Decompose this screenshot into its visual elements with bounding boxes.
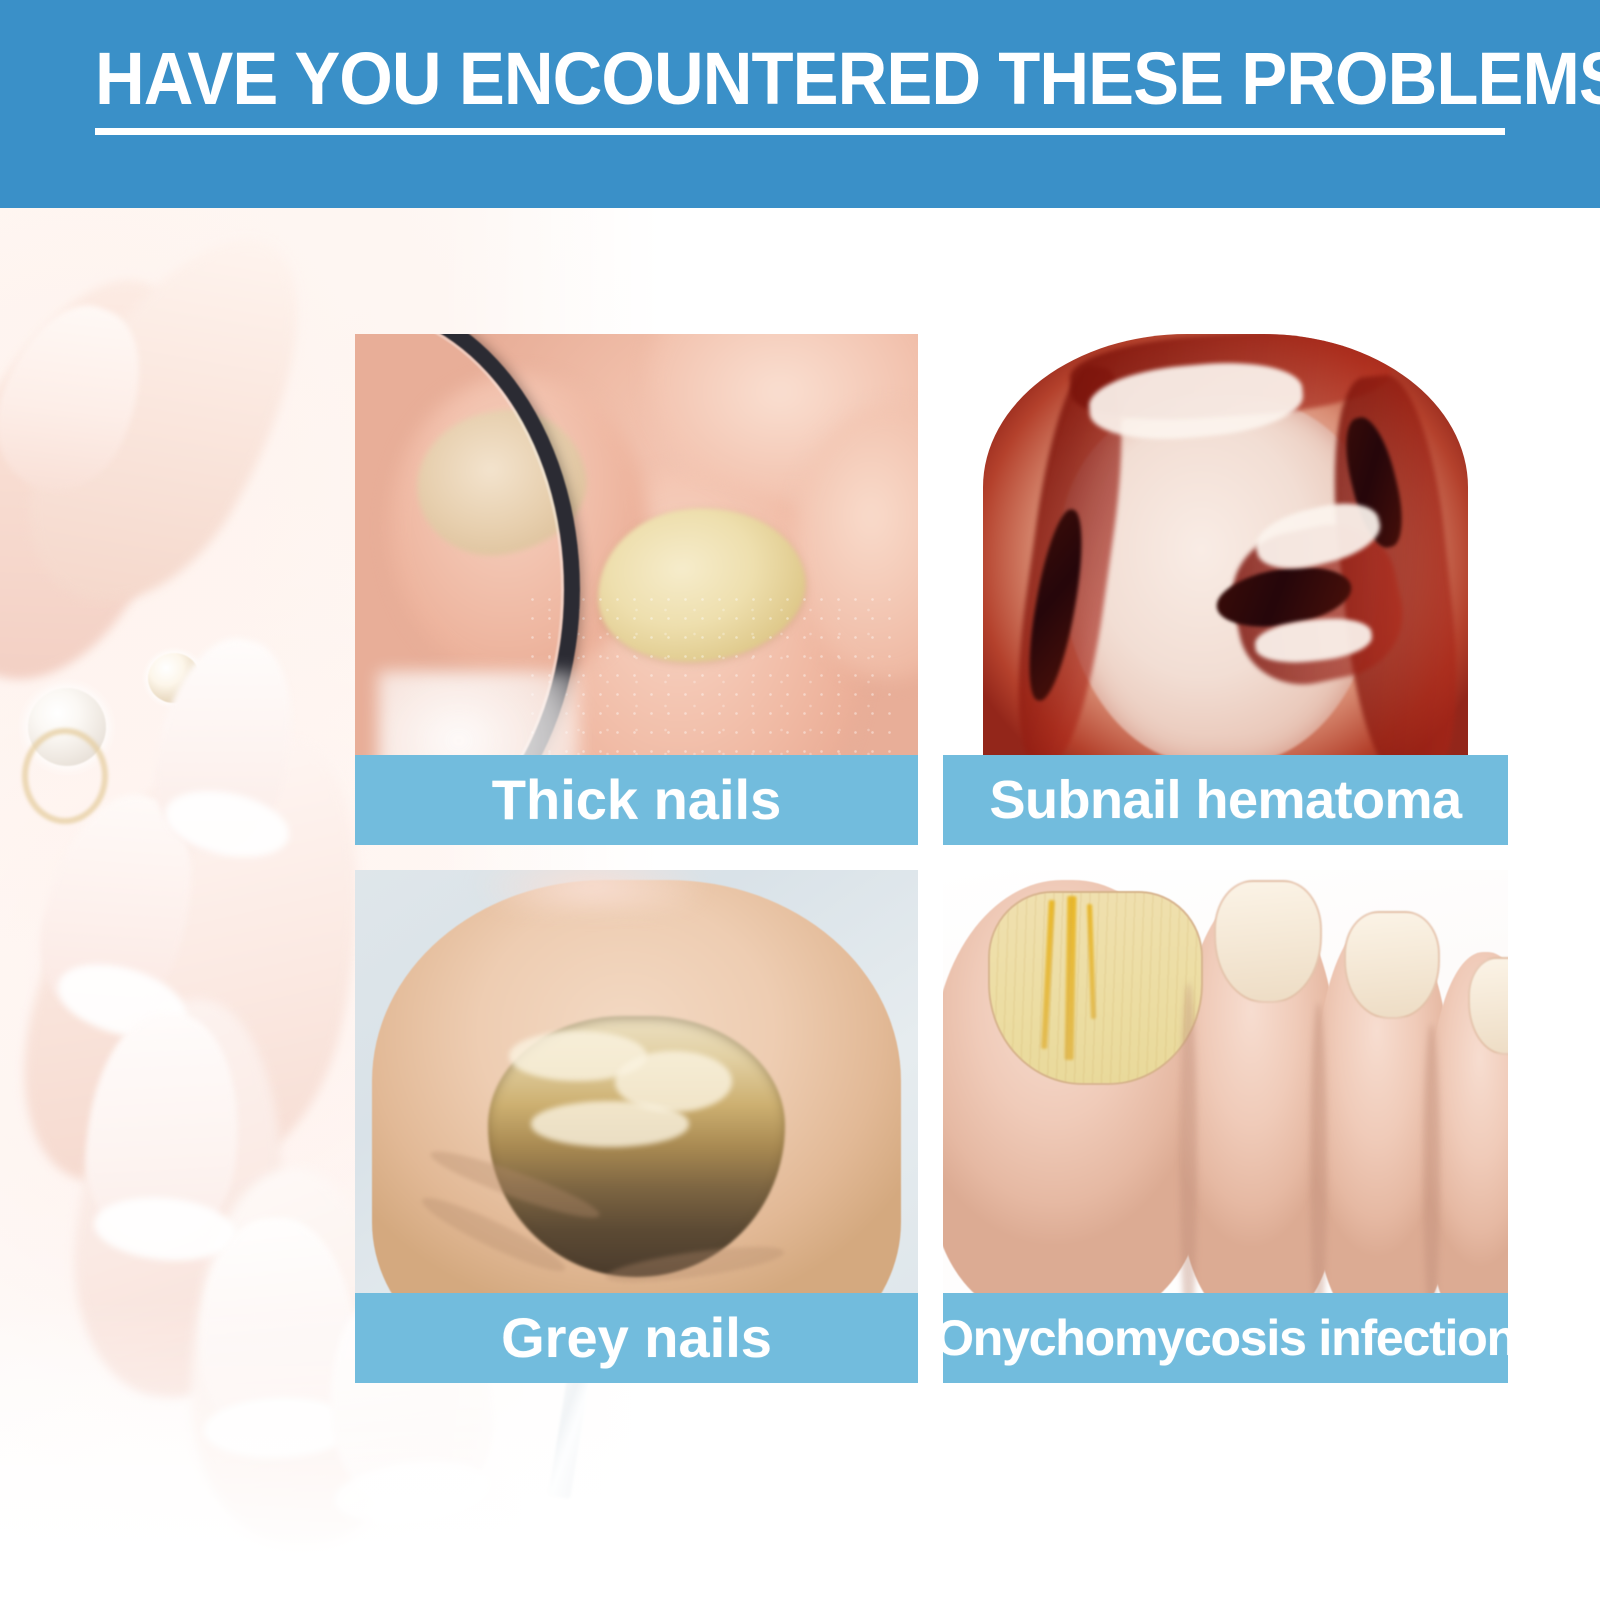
problem-card-onychomycosis-infection[interactable]: Onychomycosis infection — [943, 870, 1508, 1383]
caption-bar-subnail-hematoma: Subnail hematoma — [943, 755, 1508, 845]
french-tip-5 — [331, 1454, 493, 1531]
french-tip-2 — [159, 781, 295, 868]
infected-toenail — [988, 891, 1203, 1086]
nail-lower-2 — [139, 627, 311, 864]
finger-upper-2 — [0, 208, 357, 641]
rhinestone-1 — [148, 653, 200, 703]
problem-card-subnail-hematoma[interactable]: Subnail hematoma — [943, 334, 1508, 845]
nail-ridges — [990, 893, 1201, 1084]
caption-bar-onychomycosis-infection: Onychomycosis infection — [943, 1293, 1508, 1383]
problem-photo-grid: Thick nails Subnail hematoma — [355, 334, 1508, 1383]
french-tip-3 — [92, 1192, 239, 1266]
caption-label-subnail-hematoma: Subnail hematoma — [989, 773, 1461, 827]
caption-label-thick-nails: Thick nails — [492, 772, 781, 828]
problem-card-grey-nails[interactable]: Grey nails — [355, 870, 918, 1383]
ring-band — [22, 728, 108, 824]
caption-bar-grey-nails: Grey nails — [355, 1293, 918, 1383]
title-underline — [95, 128, 1505, 135]
french-tip-4 — [203, 1395, 355, 1460]
nail-lower-3 — [78, 1007, 248, 1254]
nail-lower-4 — [196, 1215, 359, 1450]
nail-upper-1 — [0, 286, 166, 511]
header-banner: HAVE YOU ENCOUNTERED THESE PROBLEMS? — [0, 0, 1600, 208]
finger-lower-1 — [0, 750, 289, 1206]
header-title-wrap: HAVE YOU ENCOUNTERED THESE PROBLEMS? — [95, 42, 1600, 135]
healthy-toenail-2 — [1214, 880, 1321, 1003]
nail-lower-1 — [19, 778, 217, 1038]
caption-bar-thick-nails: Thick nails — [355, 755, 918, 845]
rhinestone-2 — [168, 708, 218, 758]
rhinestone-3 — [186, 766, 234, 814]
healthy-toenail-3 — [1344, 911, 1440, 1019]
problem-card-thick-nails[interactable]: Thick nails — [355, 334, 918, 845]
pearl-ring-stone — [28, 688, 106, 766]
grey-photo-top-blur — [479, 870, 704, 911]
finger-upper-1 — [0, 243, 246, 713]
nail-debris-3 — [531, 1101, 690, 1146]
toe-gap-2 — [1310, 1003, 1327, 1331]
finger-lower-3 — [60, 988, 306, 1407]
nail-upper-2 — [112, 751, 307, 975]
page-title: HAVE YOU ENCOUNTERED THESE PROBLEMS? — [95, 42, 1600, 116]
caption-label-onychomycosis-infection: Onychomycosis infection — [943, 1313, 1508, 1363]
french-tip-1 — [49, 951, 194, 1051]
caption-label-grey-nails: Grey nails — [501, 1310, 772, 1366]
